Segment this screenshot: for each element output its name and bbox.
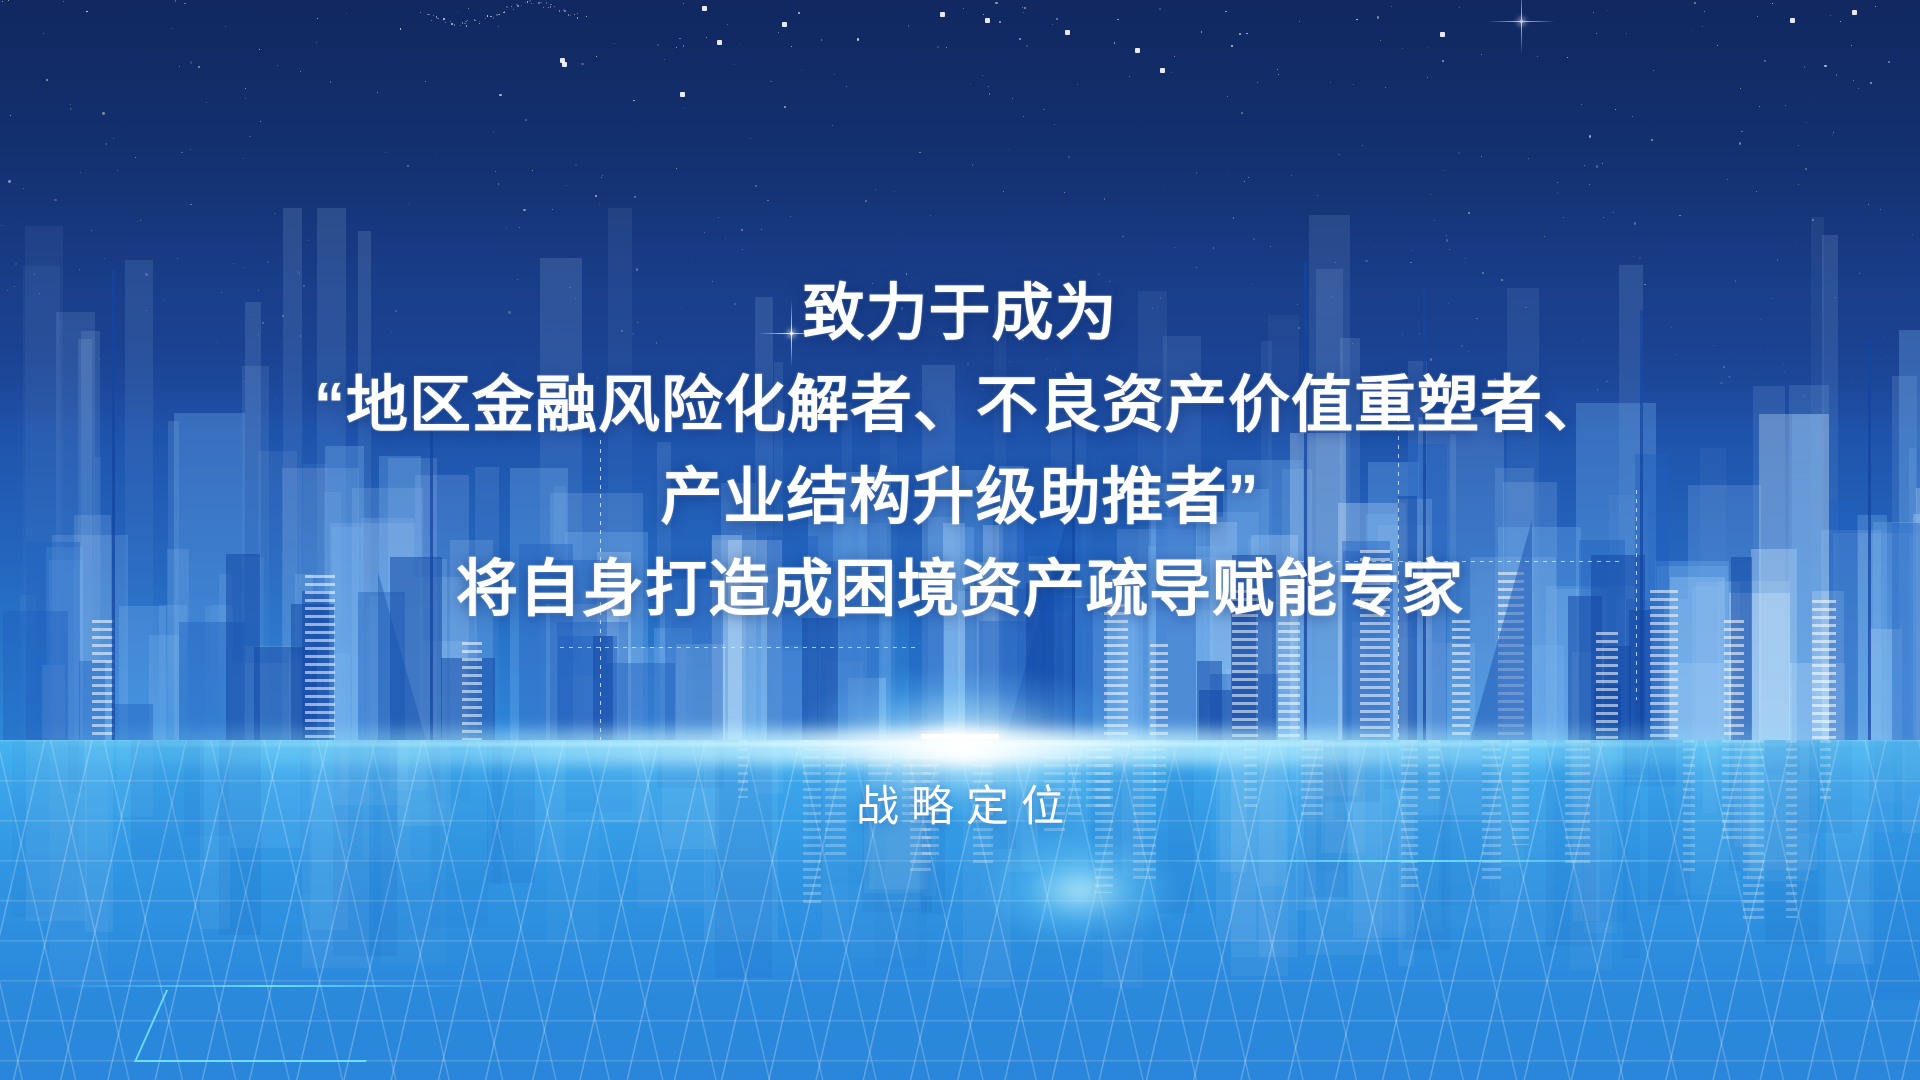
headline-line-4: 将自身打造成困境资产疏导赋能专家 bbox=[0, 544, 1920, 636]
subtitle-label: 战略定位 bbox=[0, 772, 1920, 834]
headline-line-2: “地区金融风险化解者、不良资产价值重塑者、 bbox=[0, 360, 1920, 452]
headline-line-3: 产业结构升级助推者” bbox=[0, 452, 1920, 544]
presentation-slide: 致力于成为 “地区金融风险化解者、不良资产价值重塑者、 产业结构升级助推者” 将… bbox=[0, 0, 1920, 1080]
title-divider bbox=[921, 734, 999, 739]
headline-line-1: 致力于成为 bbox=[0, 268, 1920, 360]
headline-block: 致力于成为 “地区金融风险化解者、不良资产价值重塑者、 产业结构升级助推者” 将… bbox=[0, 268, 1920, 636]
slide-content: 致力于成为 “地区金融风险化解者、不良资产价值重塑者、 产业结构升级助推者” 将… bbox=[0, 0, 1920, 1080]
